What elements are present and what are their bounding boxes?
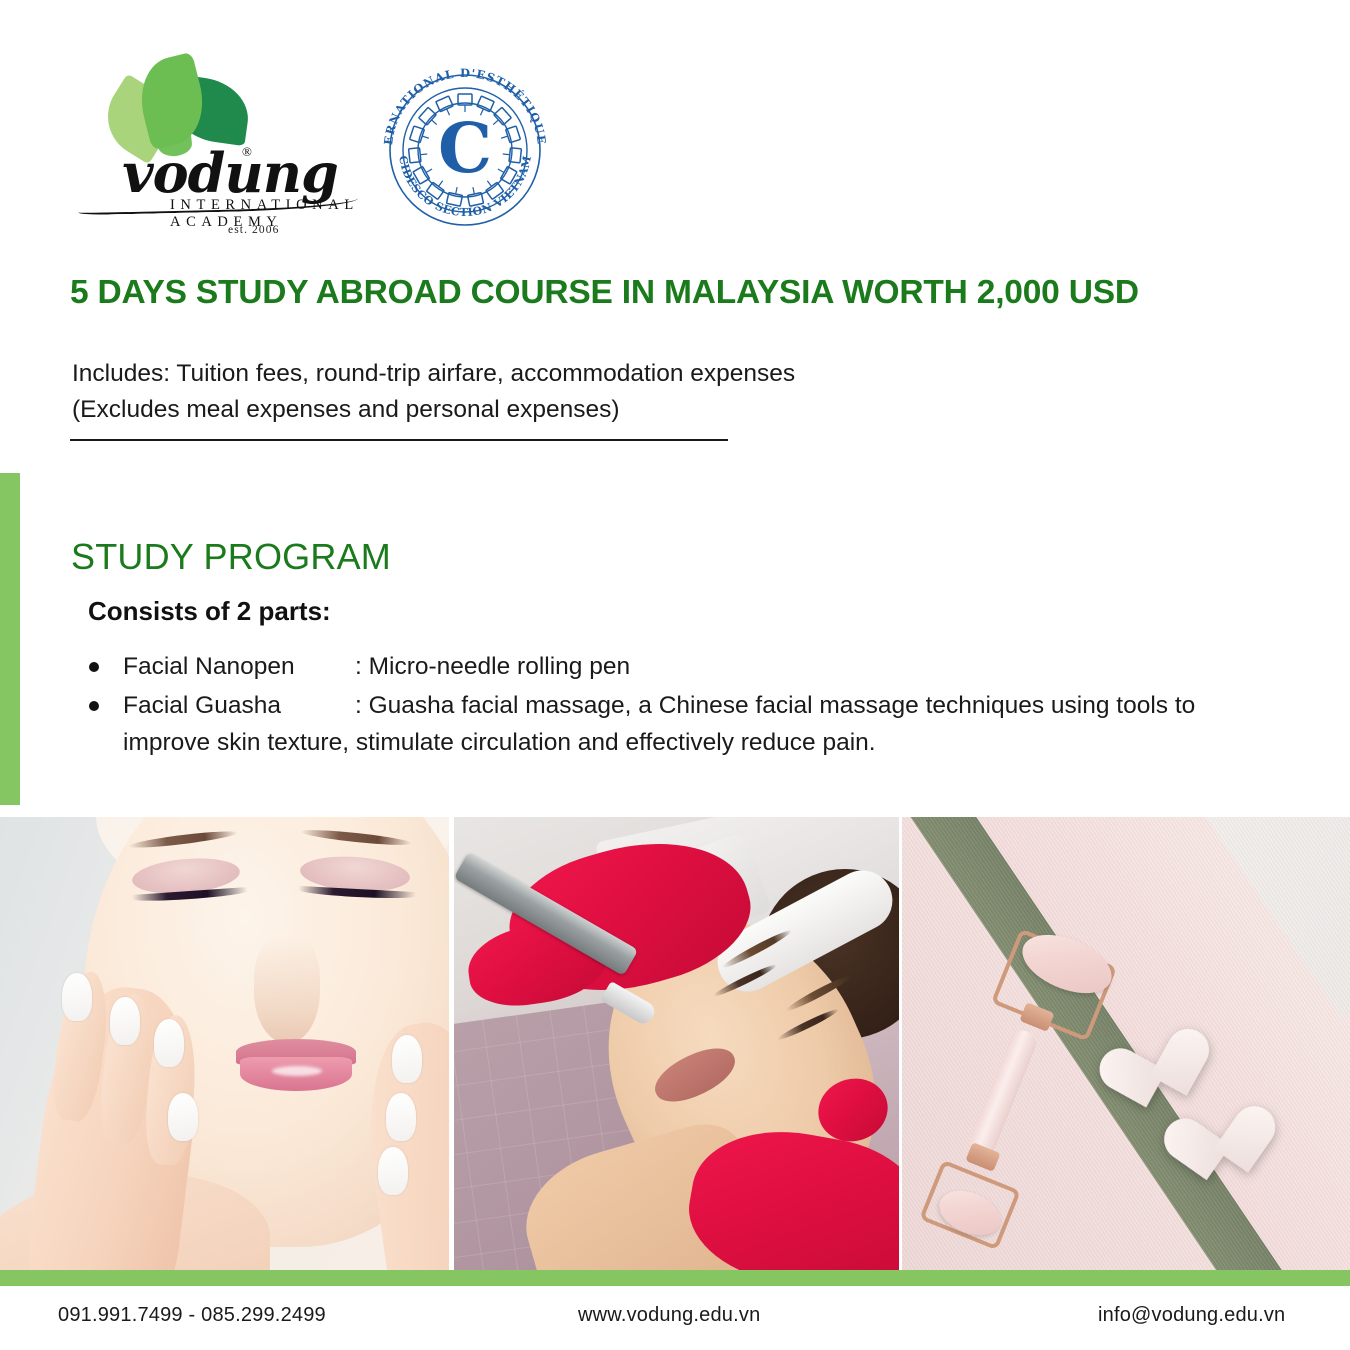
- program-item-term: Facial Nanopen: [123, 648, 355, 685]
- study-program-list: Facial Nanopen: Micro-needle rolling pen…: [75, 648, 1255, 761]
- program-item-separator: :: [355, 692, 362, 719]
- footer-website[interactable]: www.vodung.edu.vn: [578, 1304, 760, 1327]
- bullet-icon: [89, 701, 99, 711]
- logo-row: ® vodung INTERNATIONAL ACADEMY est. 2006: [78, 52, 598, 232]
- cidesco-monogram: C: [438, 109, 492, 189]
- excludes-line: (Excludes meal expenses and personal exp…: [72, 392, 1072, 428]
- photo-gallery: [0, 817, 1350, 1270]
- vodung-established: est. 2006: [228, 224, 279, 236]
- gallery-photo-nanopen-treatment: [454, 817, 899, 1270]
- footer-phone[interactable]: 091.991.7499 - 085.299.2499: [58, 1304, 326, 1327]
- program-item-term: Facial Guasha: [123, 687, 355, 724]
- footer-email[interactable]: info@vodung.edu.vn: [1098, 1304, 1285, 1327]
- header-divider: [70, 439, 728, 441]
- vodung-logo: ® vodung INTERNATIONAL ACADEMY est. 2006: [78, 52, 368, 232]
- includes-block: Includes: Tuition fees, round-trip airfa…: [72, 356, 1072, 428]
- footer: 091.991.7499 - 085.299.2499 www.vodung.e…: [0, 1286, 1350, 1350]
- program-item-separator: :: [355, 653, 362, 680]
- bullet-icon: [89, 662, 99, 672]
- left-accent-bar: [0, 473, 20, 805]
- photo1-fingernail: [392, 1035, 422, 1083]
- photo1-lip-highlight: [272, 1066, 322, 1076]
- program-item-description: Micro-needle rolling pen: [369, 653, 630, 680]
- photo1-fingernail: [386, 1093, 416, 1141]
- photo3-guasha-heart-stone: [1166, 1111, 1255, 1195]
- study-program-subheading: Consists of 2 parts:: [88, 596, 331, 627]
- page-title: 5 DAYS STUDY ABROAD COURSE IN MALAYSIA W…: [70, 274, 1310, 312]
- photo1-fingernail: [154, 1019, 184, 1067]
- list-item: Facial Guasha: Guasha facial massage, a …: [75, 687, 1255, 761]
- photo1-fingernail: [110, 997, 140, 1045]
- list-item: Facial Nanopen: Micro-needle rolling pen: [75, 648, 1255, 685]
- footer-accent-band: [0, 1270, 1350, 1286]
- photo1-nose: [254, 935, 320, 1043]
- photo1-fingernail: [378, 1147, 408, 1195]
- cidesco-seal-logo: C CIDESCO - COMITÉ INTERNATIONAL D'ESTHÉ…: [380, 54, 550, 229]
- gallery-photo-face-closeup: [0, 817, 449, 1270]
- gallery-photo-guasha-tools: [902, 817, 1350, 1270]
- photo1-fingernail: [168, 1093, 198, 1141]
- study-program-heading: STUDY PROGRAM: [71, 536, 391, 578]
- photo1-fingernail: [62, 973, 92, 1021]
- includes-line: Includes: Tuition fees, round-trip airfa…: [72, 356, 1072, 392]
